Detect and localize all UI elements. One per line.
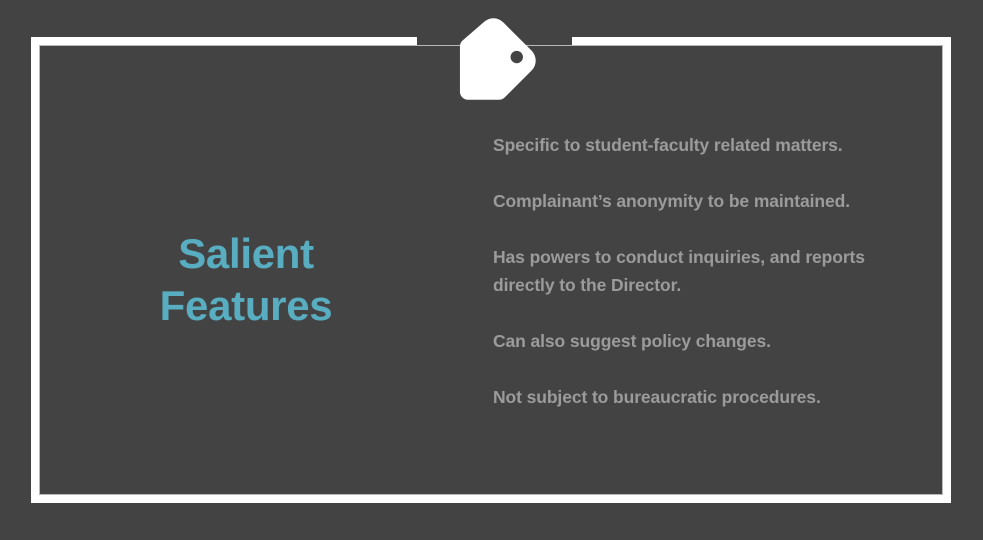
frame-border-top-right — [572, 37, 951, 45]
page-title-line-2: Features — [60, 280, 432, 332]
slide-canvas: Salient Features Specific to student-fac… — [0, 0, 983, 540]
tag-icon — [444, 14, 540, 110]
list-item: Has powers to conduct inquiries, and rep… — [493, 243, 923, 299]
frame-border-bottom — [31, 495, 951, 503]
features-list: Specific to student-faculty related matt… — [493, 131, 923, 411]
frame-border-left — [31, 37, 39, 503]
list-item: Not subject to bureaucratic procedures. — [493, 383, 923, 411]
list-item: Specific to student-faculty related matt… — [493, 131, 923, 159]
frame-border-right — [943, 37, 951, 503]
page-title: Salient Features — [60, 228, 432, 332]
list-item: Complainant’s anonymity to be maintained… — [493, 187, 923, 215]
page-title-line-1: Salient — [60, 228, 432, 280]
list-item: Can also suggest policy changes. — [493, 327, 923, 355]
frame-border-top-left — [31, 37, 417, 45]
